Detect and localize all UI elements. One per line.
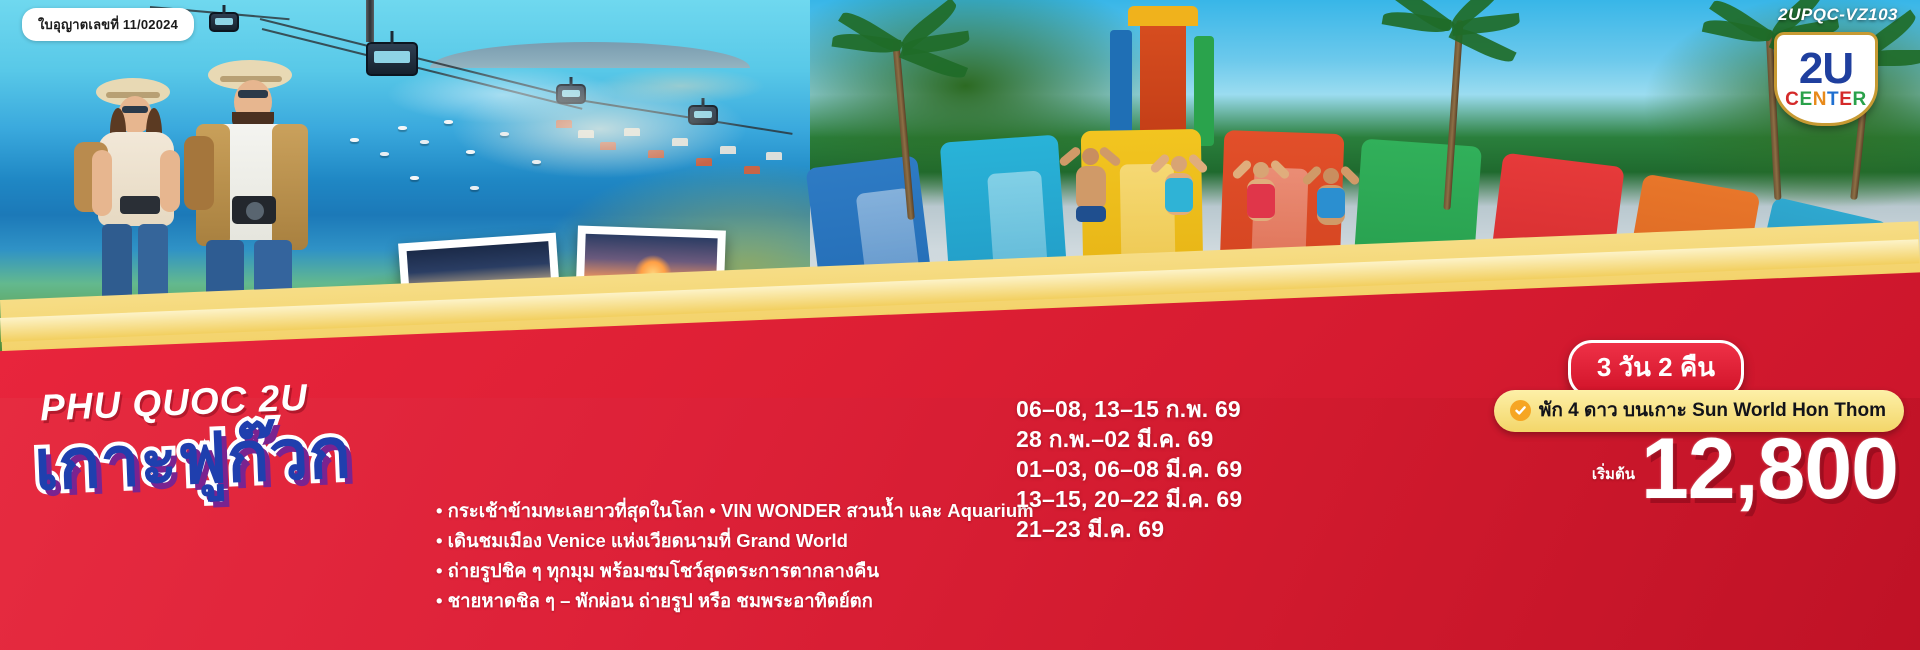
boat <box>380 152 389 156</box>
arm <box>160 150 180 212</box>
license-badge: ใบอุญาตเลขที่ 11/02024 <box>22 8 194 41</box>
departure-dates-list: 06–08, 13–15 ก.พ. 69 28 ก.พ.–02 มี.ค. 69… <box>1016 394 1242 544</box>
slide-tower <box>1110 30 1132 146</box>
swimmer-head <box>1171 156 1187 172</box>
swimsuit <box>1247 184 1275 218</box>
swimsuit <box>1076 206 1106 222</box>
torso <box>98 132 174 226</box>
brand-logo-2u-center[interactable]: 2U CENTER <box>1774 32 1878 126</box>
cable-line <box>585 100 793 135</box>
beard <box>232 112 274 130</box>
departure-date: 01–03, 06–08 มี.ค. 69 <box>1016 454 1242 484</box>
building-roof <box>766 152 782 160</box>
logo-letter-n: N <box>1813 89 1827 110</box>
boat <box>500 132 509 136</box>
building-roof <box>578 130 594 138</box>
hat-band <box>220 76 282 82</box>
cable-tower <box>366 0 374 42</box>
logo-center-text: CENTER <box>1785 90 1867 109</box>
face <box>118 96 152 134</box>
gondola-cabin <box>688 105 718 125</box>
gondola-cabin <box>366 42 418 76</box>
swimmer-head <box>1323 168 1339 184</box>
boat <box>470 186 479 190</box>
departure-date: 21–23 มี.ค. 69 <box>1016 514 1242 544</box>
swimmer-head <box>1082 148 1099 165</box>
logo-letter-e2: E <box>1839 89 1852 110</box>
camera <box>232 196 276 224</box>
building-roof <box>720 146 736 154</box>
highlight-item: • ชายหาดชิล ๆ – พักผ่อน ถ่ายรูป หรือ ชมพ… <box>436 586 996 616</box>
building-roof <box>600 142 616 150</box>
cable-line <box>262 28 583 110</box>
hat-band <box>106 92 160 98</box>
swimmer-head <box>1253 162 1269 178</box>
swimmer-body <box>1076 166 1106 210</box>
backpack <box>74 142 108 212</box>
tower-roof <box>1128 6 1198 26</box>
jacket-left <box>196 124 230 246</box>
sun-hat <box>96 78 170 106</box>
swimsuit <box>1165 178 1193 212</box>
cable-line <box>260 18 581 100</box>
headland-shape <box>430 42 750 68</box>
departure-date: 06–08, 13–15 ก.พ. 69 <box>1016 394 1242 424</box>
logo-letter-c: C <box>1785 89 1799 110</box>
sunglasses <box>238 90 268 98</box>
logo-letter-t: T <box>1827 89 1839 110</box>
gondola-cabin <box>209 12 239 32</box>
logo-letter-r: R <box>1853 89 1867 110</box>
sun-hat <box>208 60 292 90</box>
backpack <box>184 136 214 210</box>
title-thai: เกาะฟูก๊วก <box>33 418 352 501</box>
binoculars <box>120 196 160 214</box>
highlight-item: • ถ่ายรูปชิค ๆ ทุกมุม พร้อมชมโชว์สุดตระก… <box>436 556 996 586</box>
logo-letter-e1: E <box>1799 89 1812 110</box>
highlights-list: • กระเช้าข้ามทะเลยาวที่สุดในโลก • VIN WO… <box>436 496 996 616</box>
travel-promo-banner: ใบอุญาตเลขที่ 11/02024 2UPQC-VZ103 2U CE… <box>0 0 1920 650</box>
boat <box>410 176 419 180</box>
boat <box>466 150 475 154</box>
boat <box>444 120 453 124</box>
face <box>234 80 272 124</box>
building-roof <box>648 150 664 158</box>
boat <box>350 138 359 142</box>
boat <box>420 140 429 144</box>
arm <box>92 150 112 216</box>
price-amount: 12,800 <box>1641 432 1898 508</box>
price-block: เริ่มต้น 12,800 <box>1592 432 1898 508</box>
departure-date: 28 ก.พ.–02 มี.ค. 69 <box>1016 424 1242 454</box>
logo-main-text: 2U <box>1799 49 1853 89</box>
building-roof <box>624 128 640 136</box>
hair <box>110 108 126 156</box>
highlight-item: • กระเช้าข้ามทะเลยาวที่สุดในโลก • VIN WO… <box>436 496 996 526</box>
building-roof <box>672 138 688 146</box>
price-prefix-label: เริ่มต้น <box>1592 462 1635 508</box>
tour-code-label: 2UPQC-VZ103 <box>1778 5 1898 25</box>
departure-date: 13–15, 20–22 มี.ค. 69 <box>1016 484 1242 514</box>
building-roof <box>744 166 760 174</box>
building-roof <box>696 158 712 166</box>
sunglasses <box>122 106 148 113</box>
boat <box>532 160 541 164</box>
check-circle-icon <box>1510 400 1531 421</box>
slide-tower <box>1194 36 1214 146</box>
highlight-item: • เดินชมเมือง Venice แห่งเวียดนามที่ Gra… <box>436 526 996 556</box>
swimsuit <box>1317 188 1345 218</box>
jacket-right <box>272 124 308 250</box>
boat <box>398 126 407 130</box>
swimmer-arm <box>1058 145 1082 167</box>
gondola-cabin <box>556 84 586 104</box>
camera-lens <box>246 202 264 220</box>
shirt <box>200 124 302 240</box>
building-roof <box>556 120 572 128</box>
hair <box>146 108 162 160</box>
